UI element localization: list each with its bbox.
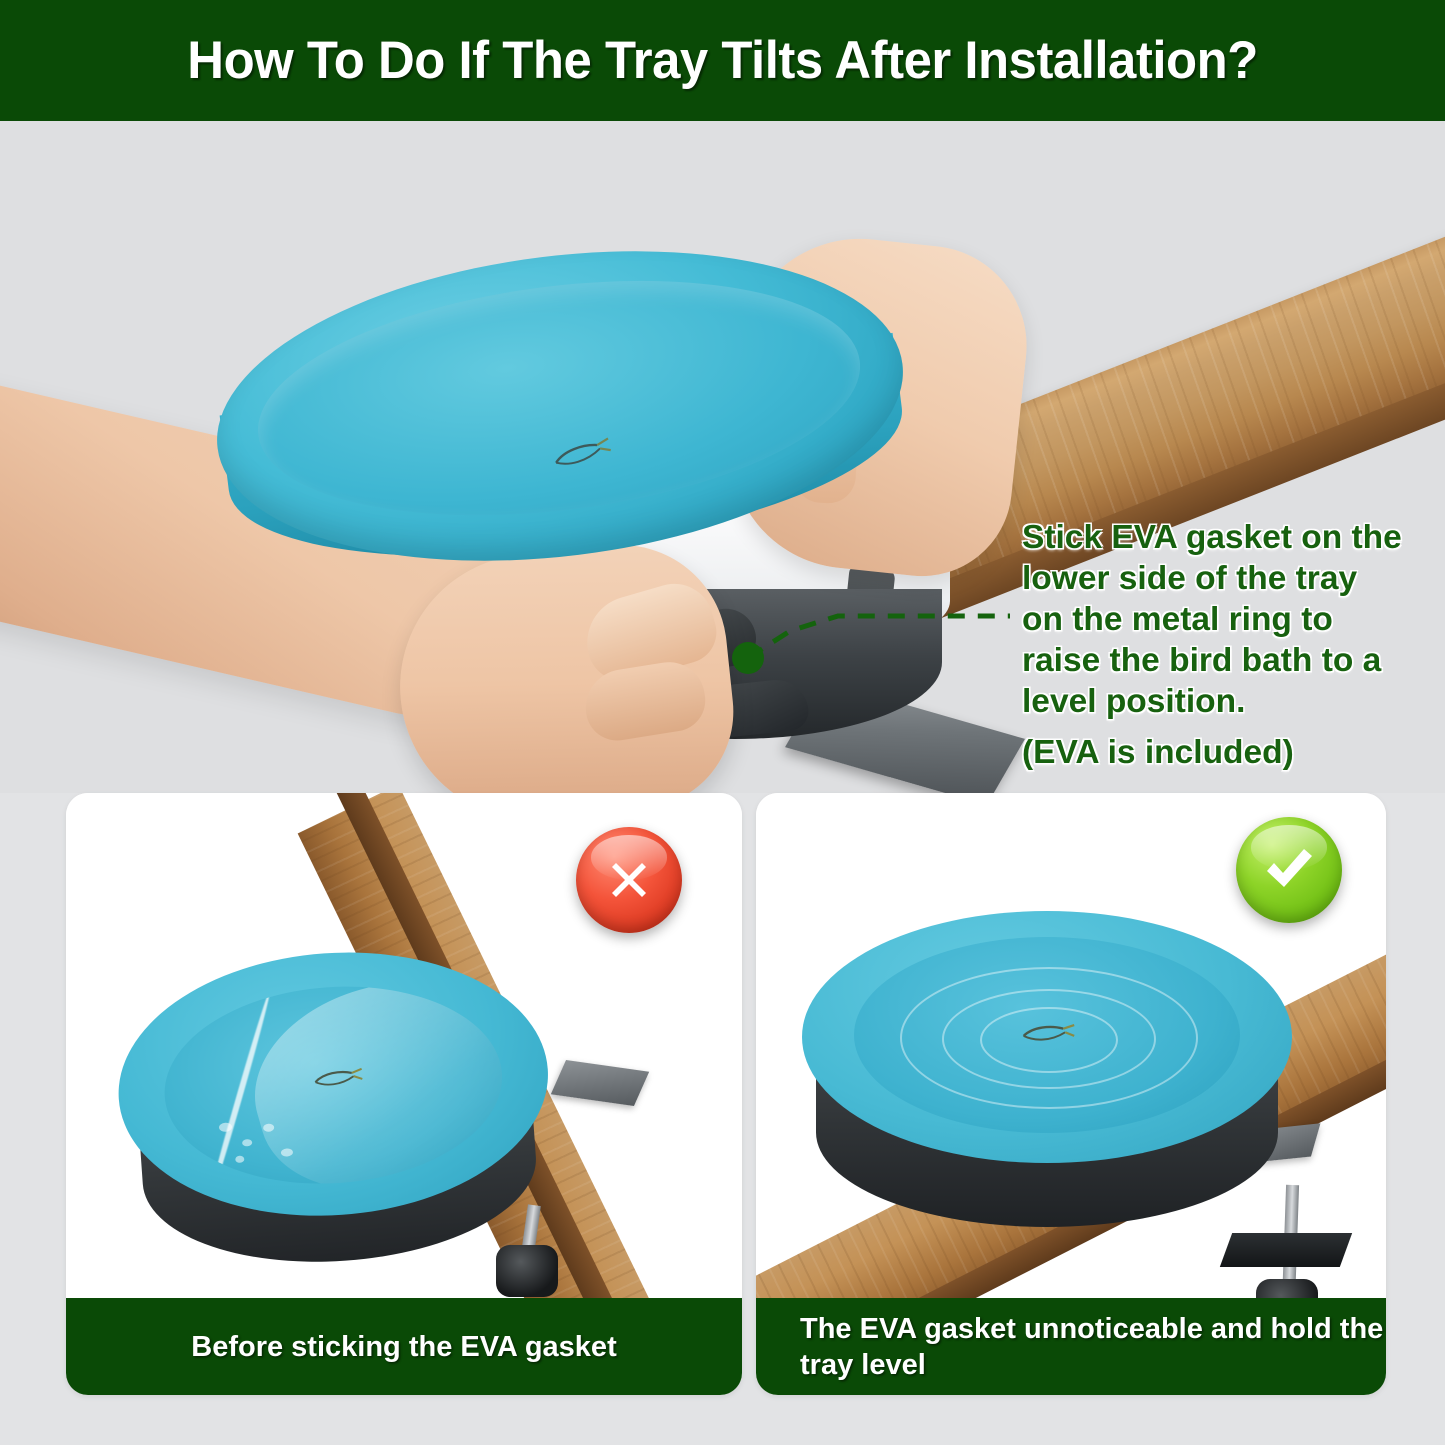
caption-text: Before sticking the EVA gasket bbox=[191, 1329, 616, 1365]
check-mark-badge bbox=[1236, 817, 1342, 923]
comparison-panels: Before sticking the EVA gasket bbox=[0, 793, 1445, 1445]
level-bird-bath bbox=[802, 911, 1292, 1241]
x-mark-badge bbox=[576, 827, 682, 933]
callout-text: Stick EVA gasket on the lower side of th… bbox=[1022, 517, 1402, 773]
eva-gasket-tab bbox=[551, 1060, 649, 1106]
panel-before: Before sticking the EVA gasket bbox=[66, 793, 742, 1395]
panel-after: The EVA gasket unnoticeable and hold the… bbox=[756, 793, 1386, 1395]
caption-text: The EVA gasket unnoticeable and hold the… bbox=[800, 1311, 1386, 1383]
page-title: How To Do If The Tray Tilts After Instal… bbox=[187, 30, 1258, 91]
callout-paragraph-1: Stick EVA gasket on the lower side of th… bbox=[1022, 519, 1402, 720]
tilted-bird-bath bbox=[110, 938, 563, 1298]
callout-paragraph-2: (EVA is included) bbox=[1022, 732, 1402, 773]
panel-before-photo bbox=[66, 793, 742, 1298]
product-instruction-image: How To Do If The Tray Tilts After Instal… bbox=[0, 0, 1445, 1445]
clamp-knob bbox=[1256, 1279, 1318, 1298]
bird-logo-icon bbox=[311, 1063, 365, 1097]
hero-photo: Stick EVA gasket on the lower side of th… bbox=[0, 121, 1445, 793]
bird-logo-icon bbox=[1020, 1019, 1076, 1051]
header-banner: How To Do If The Tray Tilts After Instal… bbox=[0, 0, 1445, 121]
panel-after-caption: The EVA gasket unnoticeable and hold the… bbox=[756, 1298, 1386, 1395]
panel-after-photo bbox=[756, 793, 1386, 1298]
pooled-water bbox=[232, 976, 508, 1195]
panel-before-caption: Before sticking the EVA gasket bbox=[66, 1298, 742, 1395]
